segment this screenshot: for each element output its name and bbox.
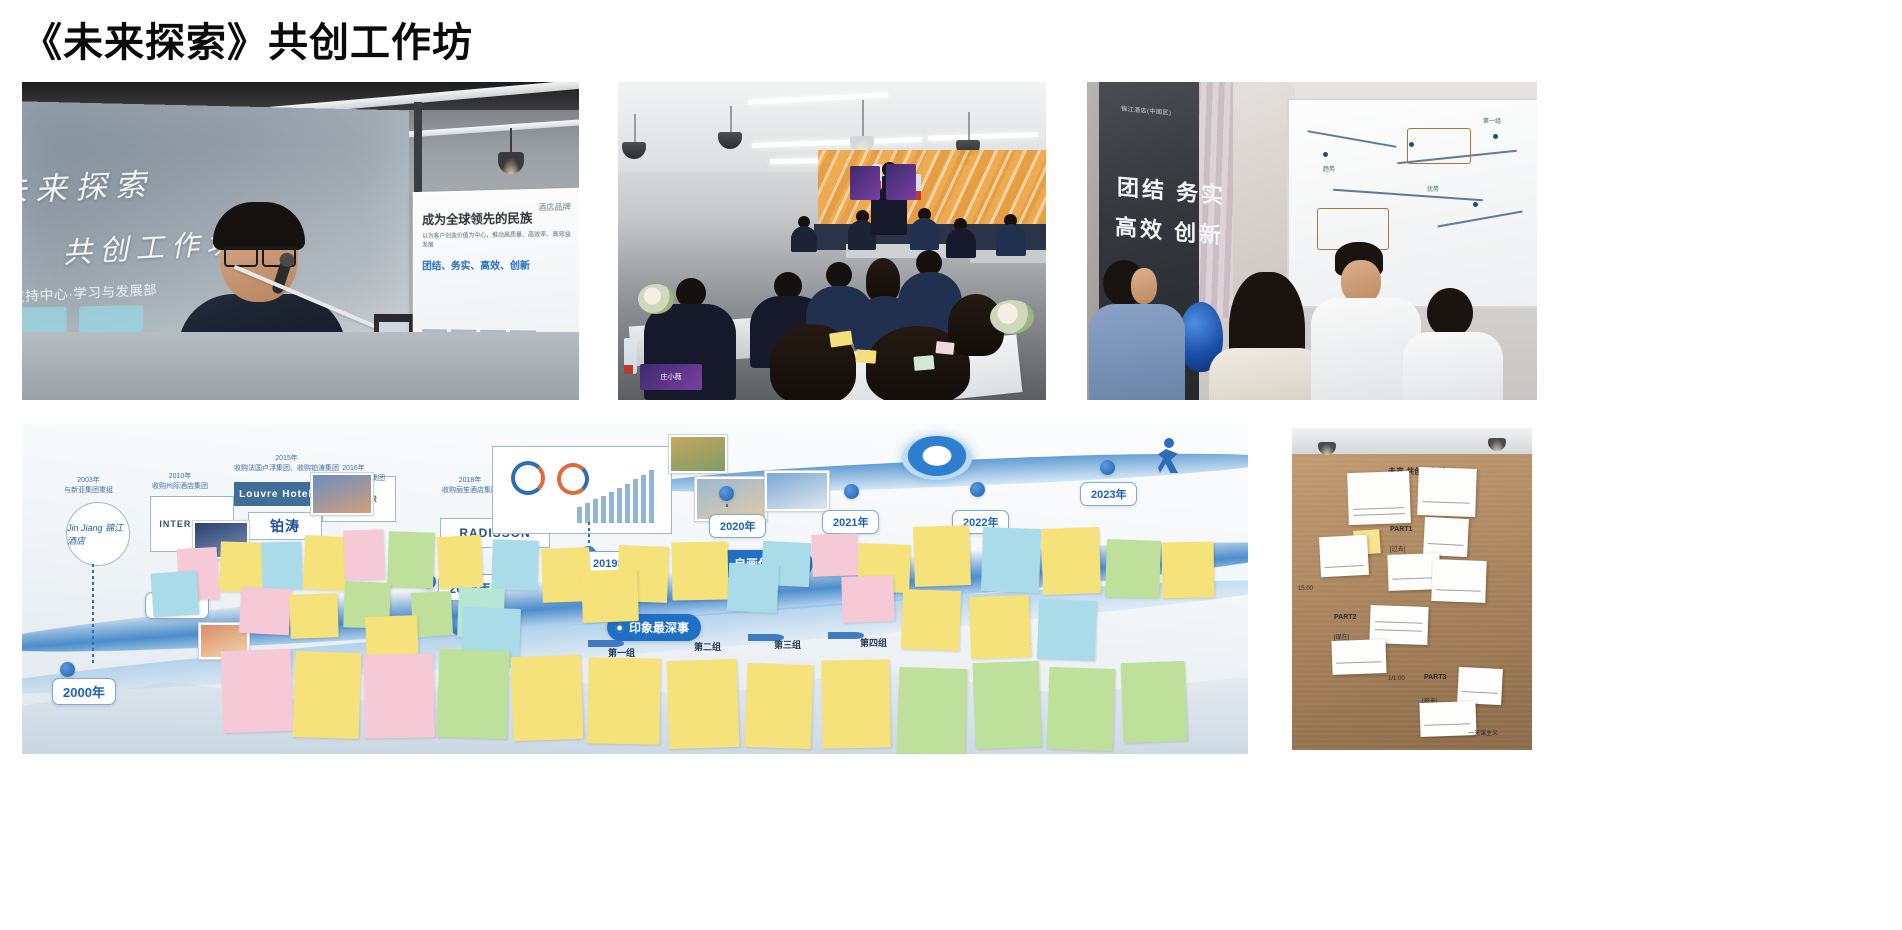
bar [601, 496, 606, 523]
milestone-caption: 2018年 收购丽笙酒店集团 [442, 476, 498, 496]
group-label: 第三组 [774, 638, 801, 651]
table-card [850, 166, 880, 200]
sticky-note [973, 661, 1042, 749]
milestone-desc: 收购州际酒店集团 [152, 482, 208, 492]
screen-chip [22, 307, 67, 335]
bar [633, 479, 638, 523]
milestone-year: 2015年 [234, 454, 339, 464]
whiteboard-tag: 第一组 [1483, 116, 1501, 125]
donut-chart [557, 463, 589, 495]
person-body [910, 218, 939, 250]
sticky-note [511, 655, 584, 741]
part1-sub-label: [过去] [1390, 544, 1405, 553]
time-label-1: 15:00 [1298, 586, 1313, 592]
part3-label: PART3 [1424, 674, 1446, 681]
whiteboard-node [1323, 152, 1328, 157]
year-badge: 2000年 [52, 678, 116, 705]
cardboard-photo: 未来 共创工作坊 探索 PART1 [过去] 15:00 PART2 [现在] [1292, 428, 1532, 750]
timeline-photo-card [310, 472, 374, 516]
group-label: 第四组 [860, 636, 887, 649]
person-body [1209, 348, 1325, 400]
lamp-cord [730, 106, 732, 132]
whiteboard-box [1407, 128, 1471, 164]
bar [617, 488, 622, 523]
sticky-note [981, 527, 1041, 593]
sticky-note [1105, 539, 1161, 599]
timeline-node [719, 486, 734, 501]
sticky-note [1037, 599, 1097, 661]
whiteboard-line [1438, 211, 1523, 227]
person-head [1427, 288, 1473, 338]
slide-page: 《未来探索》共创工作坊 未来探索 共创工作坊 力支持中心·学习与发展部 [0, 0, 1902, 930]
lamp-cord [862, 100, 864, 136]
sticky-note [969, 595, 1031, 659]
whiteboard-photo: 锦江酒店(中国区) 团结 务实 高效 创新 第一组 趋势 优势 [1087, 82, 1537, 400]
sticky-note [387, 531, 435, 589]
sticky-note [293, 651, 362, 739]
sticky-note [221, 649, 294, 733]
lamp-cord [510, 128, 512, 152]
whiteboard-tag: 优势 [1427, 184, 1439, 193]
screen-chip [79, 305, 143, 333]
year-badge: 2021年 [822, 510, 879, 534]
sticky-note [303, 535, 348, 591]
bar [577, 507, 582, 523]
screen-headline-primary: 未来探索 [22, 159, 155, 211]
sticky-note [437, 535, 484, 589]
cardboard-footer: 一天课主义 [1468, 728, 1498, 737]
sticky-note [856, 349, 877, 363]
sticky-note [811, 533, 858, 577]
drawing-card [1423, 517, 1469, 557]
group-label: 第二组 [694, 640, 721, 653]
sticky-note [587, 657, 660, 744]
milestone-caption: 2003年 与新亚集团重组 [64, 476, 113, 496]
sticky-note [436, 649, 509, 739]
person-body [1089, 304, 1185, 400]
brand-logo-label: Jin Jiang 锦江酒店 [67, 521, 129, 547]
bar [585, 503, 590, 523]
donut-chart [511, 461, 545, 495]
whiteboard-node [1473, 202, 1478, 207]
runner-icon [1154, 438, 1184, 480]
milestone-year: 2018年 [442, 476, 498, 486]
milestone-caption: 2010年 收购州际酒店集团 [152, 472, 208, 492]
milestone-desc: 与新亚集团重组 [64, 486, 113, 496]
workshop-photo: 庄小薇 [618, 82, 1046, 400]
sticky-note [671, 542, 728, 601]
brand-logo-jinjiang: Jin Jiang 锦江酒店 [66, 502, 130, 566]
sticky-note [897, 667, 968, 754]
presentation-photo: 未来探索 共创工作坊 力支持中心·学习与发展部 成为全球领先的民族 以为客户创造… [22, 82, 579, 400]
drawing-card [1331, 639, 1386, 675]
water-bottle [624, 338, 637, 374]
page-title: 《未来探索》共创工作坊 [22, 10, 473, 68]
timeline-node [60, 662, 75, 677]
drawing-card [1457, 667, 1503, 705]
bar [641, 475, 646, 523]
sticky-note [1047, 667, 1116, 751]
table-card [886, 164, 916, 200]
sticky-note [343, 529, 385, 580]
person-head [826, 262, 852, 288]
flower-arrangement [638, 284, 674, 314]
bar [649, 470, 654, 523]
person-body [946, 228, 976, 258]
sticky-note [1162, 542, 1215, 599]
whiteboard-line [1333, 189, 1483, 201]
sticky-note [363, 653, 434, 738]
timeline-node [1100, 460, 1115, 475]
sticky-note [289, 593, 339, 639]
sticky-note [1041, 527, 1101, 595]
bar [609, 492, 614, 523]
sticky-note [219, 541, 263, 592]
sticky-note [821, 659, 891, 748]
sticky-note [727, 563, 779, 614]
drawing-card [1417, 467, 1477, 517]
drawing-card [1347, 471, 1411, 525]
year-badge: 2023年 [1080, 482, 1137, 506]
timeline-photo-card [668, 434, 728, 474]
sticky-note [913, 355, 934, 371]
sticky-note [261, 541, 303, 590]
lamp-cord [634, 114, 636, 142]
sticky-note [491, 539, 539, 591]
whiteboard: 第一组 趋势 优势 [1287, 98, 1537, 308]
sticky-note [913, 525, 971, 587]
time-label-2: 1/1:00 [1388, 676, 1405, 682]
brand-medallion [902, 436, 972, 480]
group-arrow [828, 632, 864, 639]
person-body [1403, 332, 1503, 400]
drawing-card [1319, 535, 1369, 577]
sticky-note [666, 659, 739, 749]
person-body [996, 224, 1026, 256]
timeline-node [970, 482, 985, 497]
drawing-card [1431, 559, 1486, 603]
person-body [791, 226, 817, 252]
poster-values: 团结、务实、高效、创新 [422, 256, 571, 272]
banner-brand-text: 锦江酒店(中国区) [1121, 104, 1177, 123]
milestone-year: 2003年 [64, 476, 113, 486]
floor [22, 332, 579, 400]
sticky-note [745, 663, 814, 749]
statistics-chart-card [492, 446, 672, 534]
sticky-note [901, 589, 961, 651]
timeline-photo-card [764, 470, 830, 512]
sticky-note [581, 569, 639, 623]
bar [593, 499, 598, 523]
bar [625, 484, 630, 523]
sticky-note [841, 575, 895, 623]
milestone-desc: 收购丽笙酒店集团 [442, 486, 498, 496]
year-badge: 2020年 [709, 514, 766, 538]
milestone-year: 2010年 [152, 472, 208, 482]
name-card: 庄小薇 [640, 364, 702, 390]
sticky-note [1121, 661, 1188, 743]
timeline-node [844, 484, 859, 499]
poster-brand: 酒店品牌 [538, 202, 571, 213]
flower-arrangement [990, 300, 1034, 334]
screen-department-text: 力支持中心·学习与发展部 [22, 279, 157, 306]
whiteboard-tag: 趋势 [1323, 164, 1335, 173]
timeline-stem [92, 564, 94, 664]
part2-label: PART2 [1334, 614, 1356, 621]
person-face [1131, 268, 1157, 304]
timeline-wall-photo: Jin Jiang 锦江酒店 INTERSTATE Louvre Hotels … [22, 424, 1248, 754]
sticky-note [151, 570, 200, 617]
sticky-note [239, 587, 291, 636]
lamp-cord [968, 112, 970, 140]
whiteboard-node [1493, 134, 1498, 139]
sticky-note [935, 341, 954, 355]
whiteboard-line [1308, 130, 1397, 147]
poster-subtitle: 以为客户创造价值为中心，推动高质量、高效率、高效益发展 [422, 231, 571, 251]
presenter-hair [213, 202, 305, 250]
part1-label: PART1 [1390, 526, 1412, 533]
